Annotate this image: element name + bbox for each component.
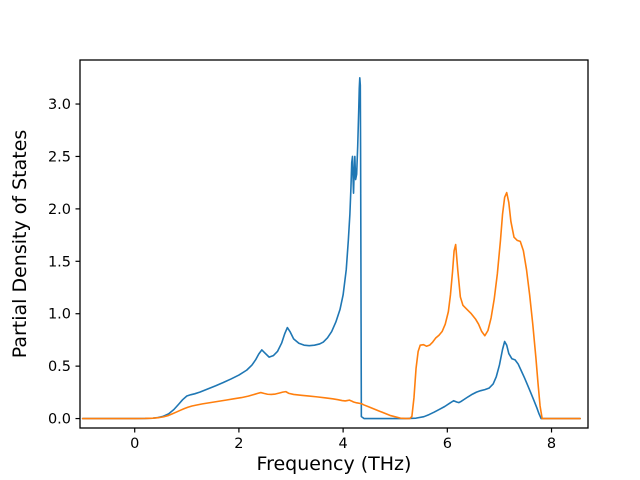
x-axis-ticks: 02468 <box>130 428 556 452</box>
y-tick-label: 0.5 <box>48 359 71 375</box>
y-tick-label: 2.0 <box>48 202 71 218</box>
x-tick-label: 0 <box>130 436 139 452</box>
x-tick-label: 4 <box>339 436 348 452</box>
y-tick-label: 1.5 <box>48 254 71 270</box>
x-tick-label: 2 <box>234 436 243 452</box>
x-axis-label: Frequency (THz) <box>257 453 412 475</box>
y-tick-label: 3.0 <box>48 97 71 113</box>
pdos-line-chart: 02468 0.00.51.01.52.02.53.0 Frequency (T… <box>0 0 640 480</box>
y-tick-label: 2.5 <box>48 149 71 165</box>
figure-canvas: 02468 0.00.51.01.52.02.53.0 Frequency (T… <box>0 0 640 480</box>
y-axis-label: Partial Density of States <box>9 130 31 359</box>
y-tick-label: 1.0 <box>48 307 71 323</box>
y-tick-label: 0.0 <box>48 412 71 428</box>
y-axis-ticks: 0.00.51.01.52.02.53.0 <box>48 97 80 428</box>
plot-frame <box>80 60 588 428</box>
x-tick-label: 8 <box>547 436 556 452</box>
x-tick-label: 6 <box>443 436 452 452</box>
